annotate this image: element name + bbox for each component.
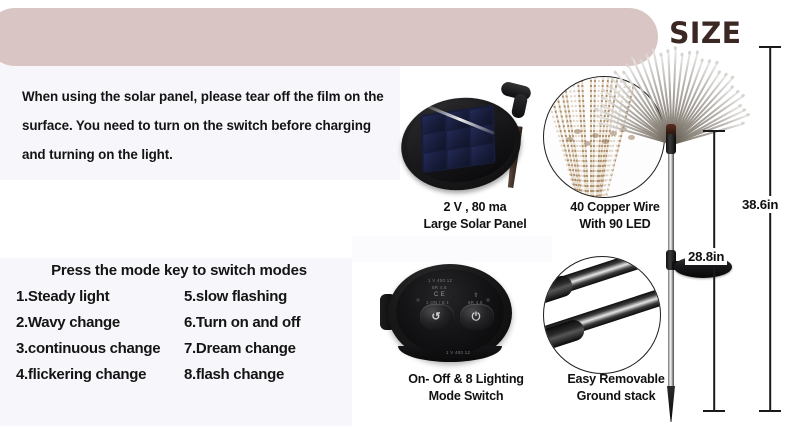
firework-wire-tip (680, 53, 683, 57)
mode-switch-caption: On- Off & 8 Lighting Mode Switch (366, 371, 566, 405)
firework-wire-tip (740, 121, 745, 125)
switch-ce-mark: C E (434, 292, 445, 298)
switch-mark-1: 8R 4.5 (432, 285, 447, 290)
switch-mark-4: 1 V 400 12 (446, 350, 470, 355)
total-height-label: 38.6in (739, 196, 781, 213)
lower-height-measure-line (702, 130, 726, 412)
firework-wire-tip (645, 53, 649, 58)
modes-grid: 1.Steady light5.slow flashing2.Wavy chan… (0, 288, 352, 383)
switch-screw-left (416, 298, 420, 302)
mode-item: 1.Steady light (0, 288, 176, 305)
firework-wire-tip (639, 59, 643, 64)
firework-wire-tip (723, 72, 728, 77)
mode-item: 6.Turn on and off (176, 314, 352, 331)
led-bead (592, 133, 599, 138)
firework-wire-tip (717, 70, 722, 75)
switch-screw-right (486, 298, 490, 302)
mode-item: 3.continuous change (0, 340, 176, 357)
modes-title: Press the mode key to switch modes (0, 262, 352, 279)
firework-wire-tip (715, 60, 720, 65)
measure-cap-bottom (703, 410, 725, 412)
firework-wire-tip (738, 103, 743, 108)
firework-wire-tip (610, 78, 615, 83)
firework-wire-tip (688, 51, 692, 56)
mode-icon: ⏻ (468, 310, 484, 324)
switch-mark-0: 1 V 400 12 (428, 278, 452, 283)
firework-wire-tip (613, 70, 618, 75)
lighting-modes-block: Press the mode key to switch modes 1.Ste… (0, 262, 352, 383)
solar-panel-photo (393, 80, 551, 198)
firework-wire-tip (651, 48, 655, 53)
solar-panel-cells (420, 105, 495, 174)
firework-wire-tip (666, 49, 669, 53)
mode-item: 4.flickering change (0, 366, 176, 383)
mode-switch-caption-line1: On- Off & 8 Lighting (366, 371, 566, 388)
firework-wire-tip (742, 108, 747, 112)
firework-wire-tip (700, 58, 704, 63)
mode-item: 2.Wavy change (0, 314, 176, 331)
measure-cap-bottom (759, 410, 781, 412)
firework-wire-tip (625, 63, 630, 68)
pole-collar-top (666, 134, 676, 154)
firework-wire-tip (746, 113, 751, 117)
led-bead (584, 141, 591, 146)
product-infographic: HIGH QUALITY PRODUCT STRUCTURE & SIZE Wh… (0, 0, 800, 426)
firework-wire-tip (730, 85, 735, 90)
firework-wire-tip (695, 50, 699, 55)
firework-wire-tip (659, 53, 662, 57)
lower-height-label: 28.8in (685, 248, 727, 265)
mode-item: 8.flash change (176, 366, 352, 383)
firework-wire-tip (707, 59, 711, 64)
led-bead (574, 129, 581, 134)
firework-wire-tip (674, 46, 677, 50)
firework-wire-tip (630, 56, 634, 61)
total-height-measure-line (758, 46, 782, 412)
measure-line (769, 46, 771, 412)
switch-wee-mark: ☦ (474, 292, 478, 299)
header-banner (0, 8, 658, 66)
intro-instructions: When using the solar panel, please tear … (22, 82, 390, 169)
firework-wire-tip (730, 75, 735, 80)
firework-wire-tip (622, 70, 627, 75)
firework-wire-tip (740, 93, 745, 98)
mode-item: 5.slow flashing (176, 288, 352, 305)
firework-wire-tip (735, 89, 740, 94)
mode-switch-photo: 1 V 400 12 8R 4.5 C E ☦ 1 ON / 8 1 8R 4.… (376, 258, 526, 370)
mode-item: 7.Dream change (176, 340, 352, 357)
mode-switch-caption-line2: Mode Switch (366, 388, 566, 405)
led-bead (602, 139, 609, 144)
stake-connector-sleeve (543, 317, 587, 353)
power-icon: ↺ (428, 310, 444, 324)
measure-line (713, 130, 715, 412)
product-stake-tip (667, 386, 675, 422)
led-bead (566, 137, 573, 142)
